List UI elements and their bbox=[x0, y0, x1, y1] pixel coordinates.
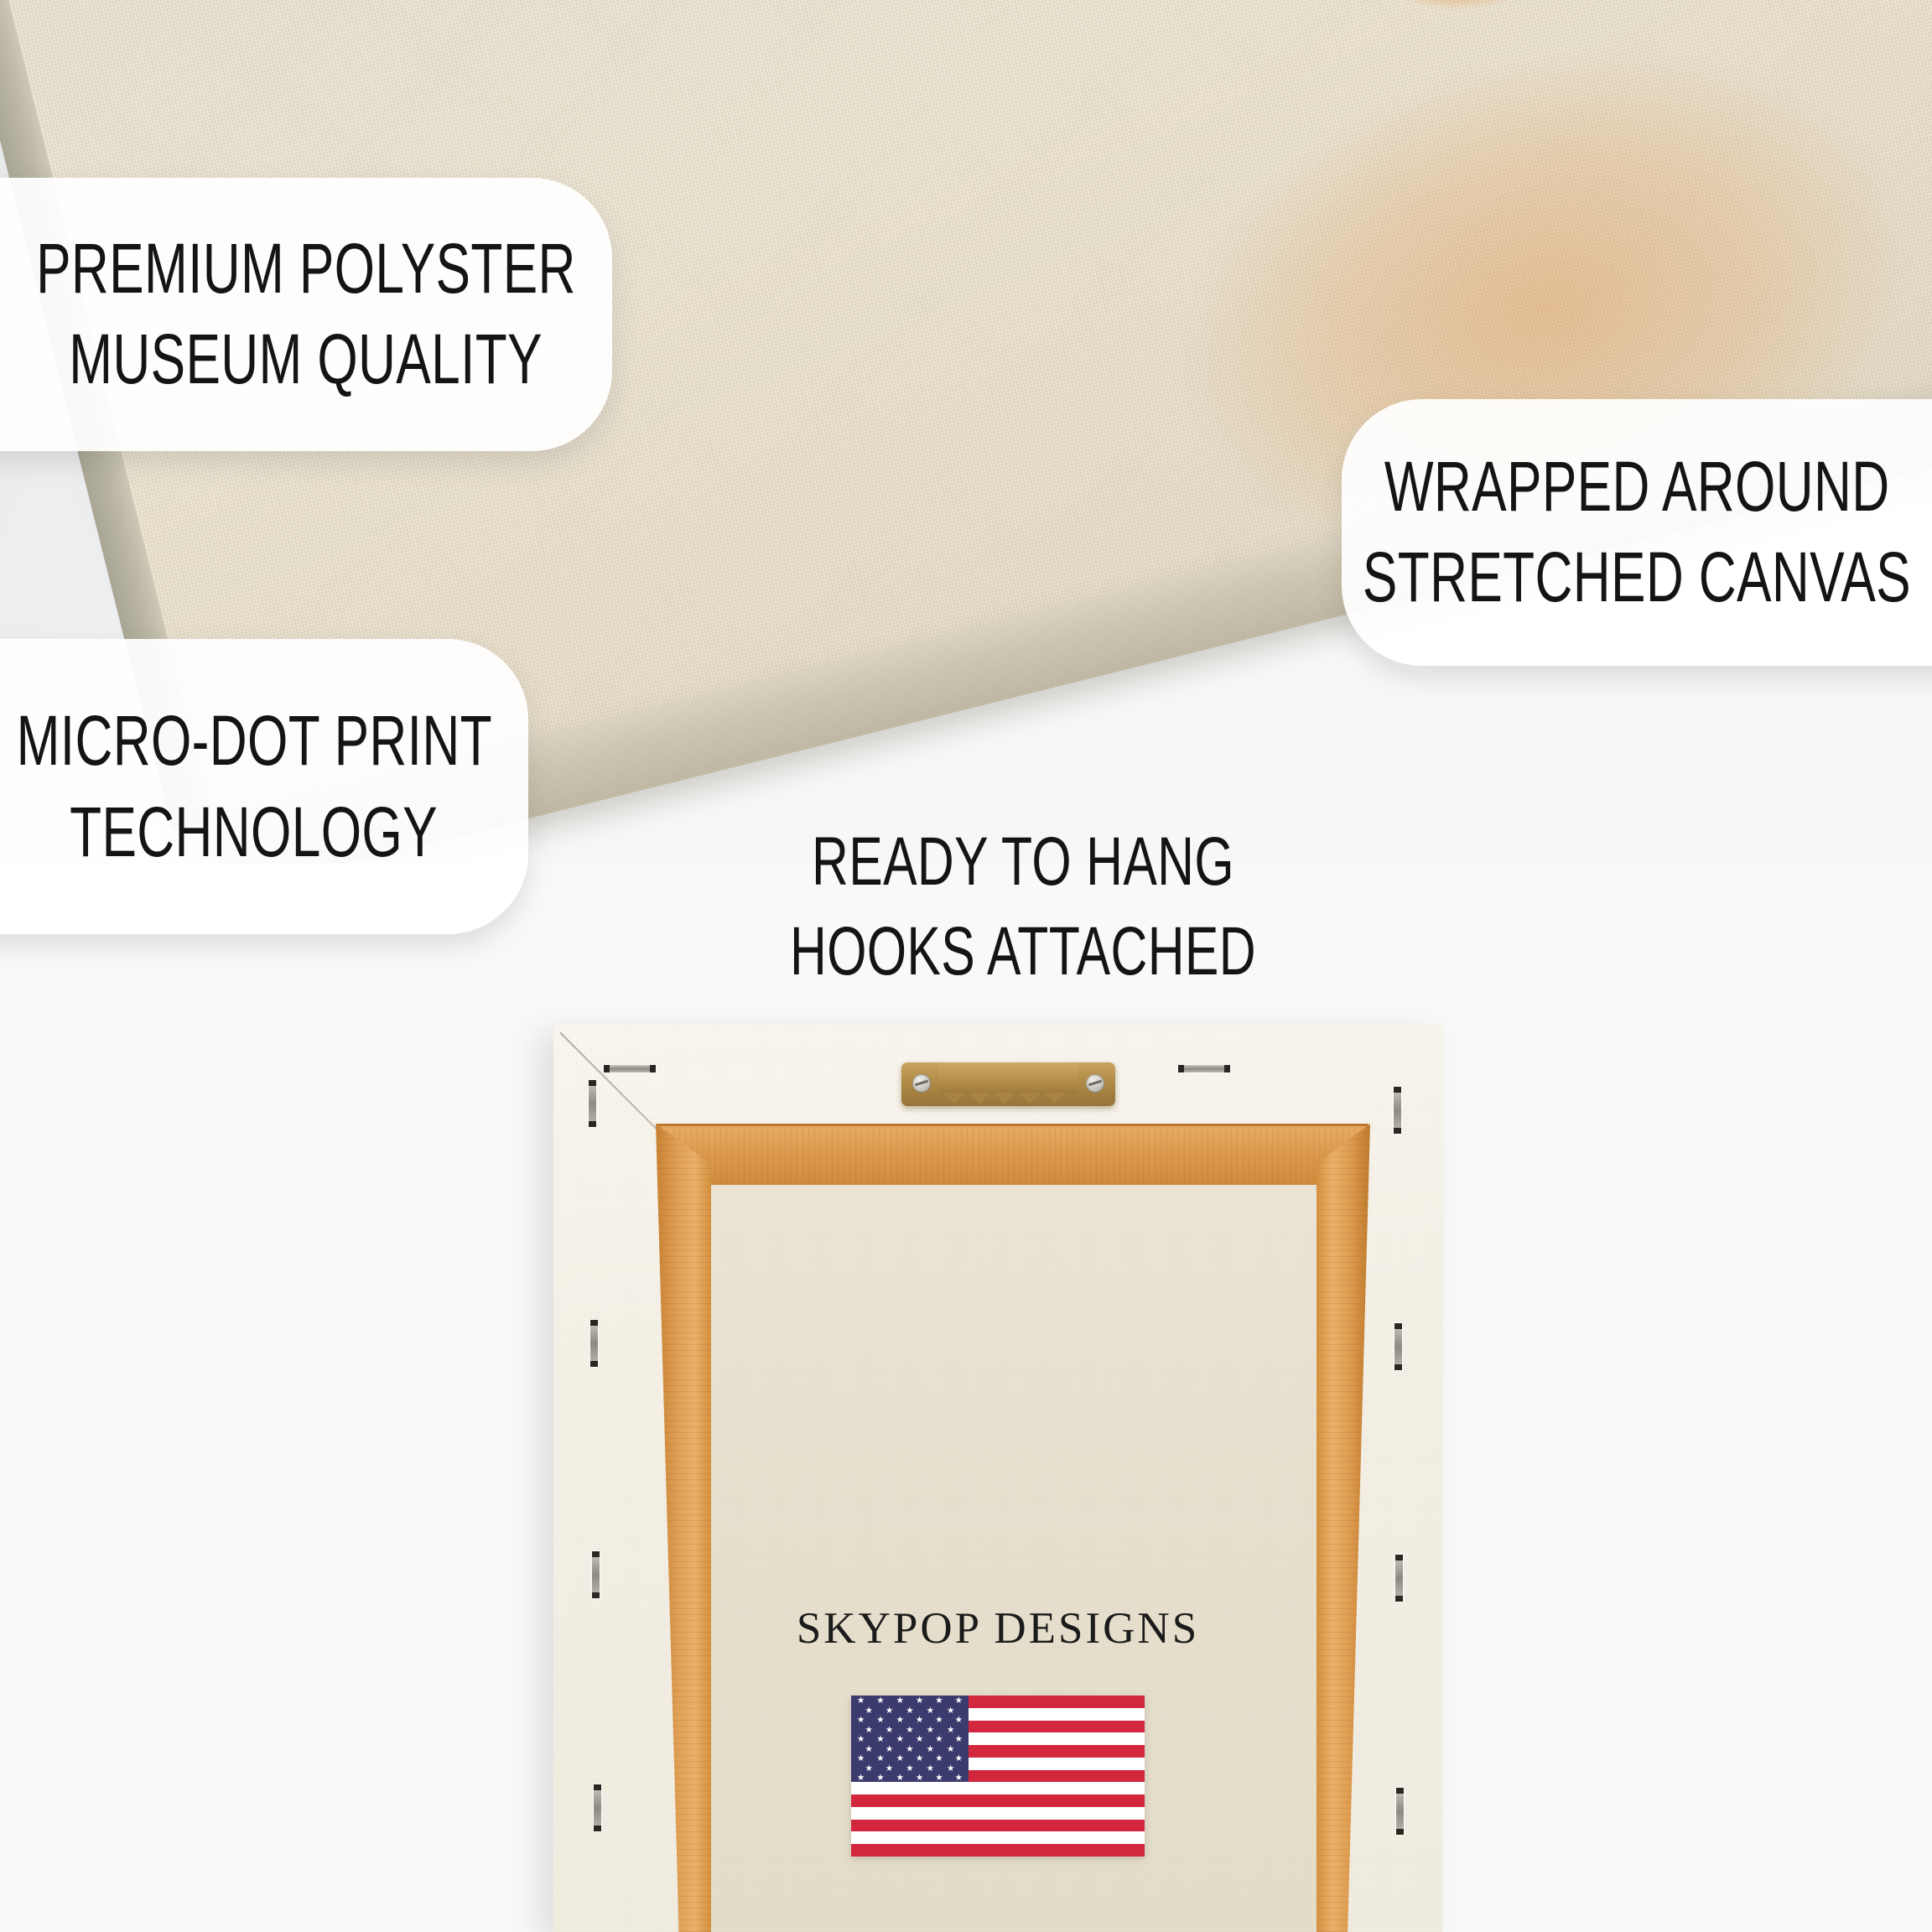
flag-star: ★ bbox=[927, 1764, 934, 1774]
flag-star: ★ bbox=[865, 1706, 872, 1716]
brand-name: SKYPOP DESIGNS bbox=[553, 1603, 1442, 1654]
hanger-body bbox=[938, 1062, 1078, 1094]
flag-star: ★ bbox=[916, 1696, 923, 1706]
flag-stripe bbox=[851, 1794, 1145, 1807]
staple-left-4 bbox=[594, 1784, 601, 1831]
flag-star: ★ bbox=[947, 1764, 954, 1774]
staple-right-2 bbox=[1394, 1323, 1402, 1370]
flag-star: ★ bbox=[927, 1726, 934, 1735]
staple-right-1 bbox=[1394, 1087, 1401, 1134]
flag-star-row: ★★★★★★ bbox=[851, 1735, 969, 1744]
flag-star: ★ bbox=[947, 1745, 954, 1754]
flag-star: ★ bbox=[927, 1745, 934, 1754]
flag-star: ★ bbox=[906, 1745, 913, 1754]
flag-star: ★ bbox=[865, 1745, 872, 1754]
flag-star: ★ bbox=[935, 1716, 943, 1725]
infographic-canvas: PREMIUM POLYSTER MUSEUM QUALITY WRAPPED … bbox=[0, 0, 1932, 1932]
flag-star-row: ★★★★★ bbox=[851, 1706, 969, 1716]
flag-star-row: ★★★★★★ bbox=[851, 1774, 969, 1783]
premium-polyster-line-1: PREMIUM POLYSTER bbox=[36, 224, 576, 314]
sawtooth-hanger bbox=[901, 1062, 1115, 1106]
premium-polyster-line-2: MUSEUM QUALITY bbox=[70, 314, 543, 405]
flag-star-row: ★★★★★ bbox=[851, 1726, 969, 1735]
flag-star: ★ bbox=[955, 1774, 963, 1783]
flag-star: ★ bbox=[896, 1774, 904, 1783]
flag-star: ★ bbox=[857, 1774, 865, 1783]
flag-star: ★ bbox=[876, 1774, 884, 1783]
hanger-screw-right bbox=[1086, 1074, 1104, 1093]
hanger-tooth-1 bbox=[943, 1093, 965, 1104]
flag-star: ★ bbox=[876, 1735, 884, 1744]
flag-star: ★ bbox=[916, 1716, 923, 1725]
hanger-tooth-2 bbox=[969, 1093, 990, 1104]
hanger-screw-left bbox=[912, 1074, 931, 1093]
staple-right-4 bbox=[1396, 1788, 1404, 1835]
flag-stripe bbox=[851, 1782, 1145, 1794]
stretcher-bar-right bbox=[1317, 1124, 1370, 1932]
staple-right-3 bbox=[1395, 1555, 1403, 1602]
flag-star: ★ bbox=[916, 1735, 923, 1744]
flag-stripe bbox=[851, 1844, 1145, 1857]
flag-star: ★ bbox=[916, 1774, 923, 1783]
flag-star: ★ bbox=[857, 1696, 865, 1706]
staple-top-1 bbox=[604, 1065, 656, 1072]
micro-dot-print-line-1: MICRO-DOT PRINT bbox=[16, 695, 491, 787]
flag-star: ★ bbox=[896, 1696, 904, 1706]
micro-dot-print-line-2: TECHNOLOGY bbox=[70, 787, 439, 878]
flag-star: ★ bbox=[927, 1706, 934, 1716]
flag-star: ★ bbox=[947, 1726, 954, 1735]
flag-star: ★ bbox=[935, 1696, 943, 1706]
wrapped-around-line-1: WRAPPED AROUND bbox=[1384, 442, 1890, 532]
flag-star: ★ bbox=[857, 1754, 865, 1763]
flag-star: ★ bbox=[885, 1726, 893, 1735]
flag-star-row: ★★★★★ bbox=[851, 1764, 969, 1774]
flag-star: ★ bbox=[876, 1716, 884, 1725]
flag-star: ★ bbox=[906, 1726, 913, 1735]
flag-star-row: ★★★★★ bbox=[851, 1745, 969, 1754]
stretcher-bar-top bbox=[656, 1124, 1368, 1185]
flag-star: ★ bbox=[906, 1706, 913, 1716]
flag-star-row: ★★★★★★ bbox=[851, 1696, 969, 1706]
flag-star: ★ bbox=[935, 1774, 943, 1783]
ready-to-hang-headline: READY TO HANG HOOKS ATTACHED bbox=[637, 818, 1409, 996]
flag-star: ★ bbox=[955, 1735, 963, 1744]
wrapped-around-badge[interactable]: WRAPPED AROUND STRETCHED CANVAS bbox=[1342, 399, 1932, 666]
ready-to-hang-line-1: READY TO HANG bbox=[738, 818, 1309, 907]
wrapped-around-line-2: STRETCHED CANVAS bbox=[1363, 532, 1911, 623]
flag-star: ★ bbox=[896, 1754, 904, 1763]
flag-stripe bbox=[851, 1820, 1145, 1832]
flag-star: ★ bbox=[857, 1716, 865, 1725]
hanger-tooth-5 bbox=[1044, 1093, 1066, 1104]
flag-stripe bbox=[851, 1807, 1145, 1820]
flag-star: ★ bbox=[896, 1735, 904, 1744]
staple-left-1 bbox=[589, 1080, 596, 1127]
flag-star: ★ bbox=[865, 1726, 872, 1735]
canvas-back-panel: SKYPOP DESIGNS ★★★★★★★★★★★★★★★★★★★★★★★★★… bbox=[553, 1025, 1442, 1932]
flag-star: ★ bbox=[876, 1754, 884, 1763]
micro-dot-print-badge[interactable]: MICRO-DOT PRINT TECHNOLOGY bbox=[0, 639, 528, 934]
staple-left-3 bbox=[592, 1551, 600, 1598]
flag-star: ★ bbox=[955, 1754, 963, 1763]
flag-star: ★ bbox=[955, 1696, 963, 1706]
flag-star: ★ bbox=[885, 1706, 893, 1716]
premium-polyster-badge[interactable]: PREMIUM POLYSTER MUSEUM QUALITY bbox=[0, 178, 612, 451]
flag-star: ★ bbox=[857, 1735, 865, 1744]
us-flag: ★★★★★★★★★★★★★★★★★★★★★★★★★★★★★★★★★★★★★★★★… bbox=[851, 1696, 1145, 1857]
flag-star: ★ bbox=[935, 1735, 943, 1744]
flag-star: ★ bbox=[896, 1716, 904, 1725]
flag-stripe bbox=[851, 1831, 1145, 1844]
flag-star-row: ★★★★★★ bbox=[851, 1716, 969, 1725]
flag-star: ★ bbox=[955, 1716, 963, 1725]
hanger-tooth-4 bbox=[1019, 1093, 1041, 1104]
flag-star: ★ bbox=[947, 1706, 954, 1716]
ready-to-hang-line-2: HOOKS ATTACHED bbox=[738, 907, 1309, 997]
flag-star: ★ bbox=[876, 1696, 884, 1706]
flag-star: ★ bbox=[885, 1745, 893, 1754]
flag-star: ★ bbox=[906, 1764, 913, 1774]
flag-star: ★ bbox=[935, 1754, 943, 1763]
staple-top-3 bbox=[1178, 1065, 1230, 1072]
hanger-tooth-3 bbox=[994, 1093, 1015, 1104]
flag-star-row: ★★★★★★ bbox=[851, 1754, 969, 1763]
staple-left-2 bbox=[590, 1320, 598, 1367]
stretcher-bar-left bbox=[656, 1124, 711, 1932]
flag-star: ★ bbox=[865, 1764, 872, 1774]
flag-star: ★ bbox=[916, 1754, 923, 1763]
leaf-accent-peach bbox=[1301, 0, 1630, 34]
flag-star: ★ bbox=[885, 1764, 893, 1774]
